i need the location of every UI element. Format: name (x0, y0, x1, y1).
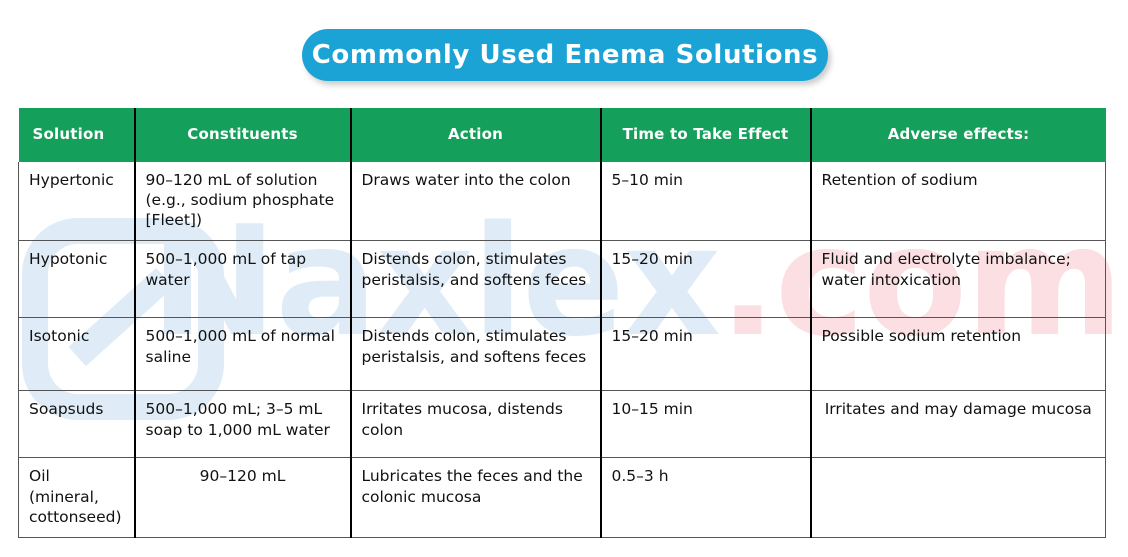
cell-action: Distends colon, stimulates peristalsis, … (351, 241, 601, 318)
column-header-constituents: Constituents (135, 108, 351, 162)
column-header-adverse-effects: Adverse effects: (811, 108, 1106, 162)
column-header-solution: Solution (19, 108, 135, 162)
page-title-banner: Commonly Used Enema Solutions (302, 29, 828, 81)
table-row: Isotonic 500–1,000 mL of normal saline D… (19, 318, 1106, 391)
cell-solution: Soapsuds (19, 391, 135, 458)
cell-solution: Hypertonic (19, 162, 135, 241)
column-header-time-to-take-effect: Time to Take Effect (601, 108, 811, 162)
cell-time: 5–10 min (601, 162, 811, 241)
cell-solution: Oil (mineral, cottonseed) (19, 458, 135, 537)
cell-action: Draws water into the colon (351, 162, 601, 241)
table-header: Solution Constituents Action Time to Tak… (19, 108, 1106, 162)
table-row: Hypertonic 90–120 mL of solution (e.g., … (19, 162, 1106, 241)
cell-constituents: 500–1,000 mL of tap water (135, 241, 351, 318)
cell-constituents: 500–1,000 mL of normal saline (135, 318, 351, 391)
cell-adverse: Possible sodium retention (811, 318, 1106, 391)
table-row: Oil (mineral, cottonseed) 90–120 mL Lubr… (19, 458, 1106, 537)
cell-constituents: 90–120 mL (135, 458, 351, 537)
cell-solution: Isotonic (19, 318, 135, 391)
cell-action: Distends colon, stimulates peristalsis, … (351, 318, 601, 391)
cell-action: Irritates mucosa, distends colon (351, 391, 601, 458)
cell-adverse: Retention of sodium (811, 162, 1106, 241)
table-row: Soapsuds 500–1,000 mL; 3–5 mL soap to 1,… (19, 391, 1106, 458)
cell-time: 15–20 min (601, 241, 811, 318)
cell-solution: Hypotonic (19, 241, 135, 318)
table-header-row: Solution Constituents Action Time to Tak… (19, 108, 1106, 162)
enema-solutions-table: Solution Constituents Action Time to Tak… (18, 108, 1106, 538)
cell-time: 15–20 min (601, 318, 811, 391)
table-row: Hypotonic 500–1,000 mL of tap water Dist… (19, 241, 1106, 318)
cell-adverse (811, 458, 1106, 537)
table-body: Hypertonic 90–120 mL of solution (e.g., … (19, 162, 1106, 537)
cell-action: Lubricates the feces and the colonic muc… (351, 458, 601, 537)
cell-adverse: Fluid and electrolyte imbalance; water i… (811, 241, 1106, 318)
page-title: Commonly Used Enema Solutions (312, 40, 819, 70)
cell-constituents: 90–120 mL of solution (e.g., sodium phos… (135, 162, 351, 241)
column-header-action: Action (351, 108, 601, 162)
cell-time: 0.5–3 h (601, 458, 811, 537)
cell-constituents: 500–1,000 mL; 3–5 mL soap to 1,000 mL wa… (135, 391, 351, 458)
cell-adverse: Irritates and may damage mucosa (811, 391, 1106, 458)
cell-time: 10–15 min (601, 391, 811, 458)
